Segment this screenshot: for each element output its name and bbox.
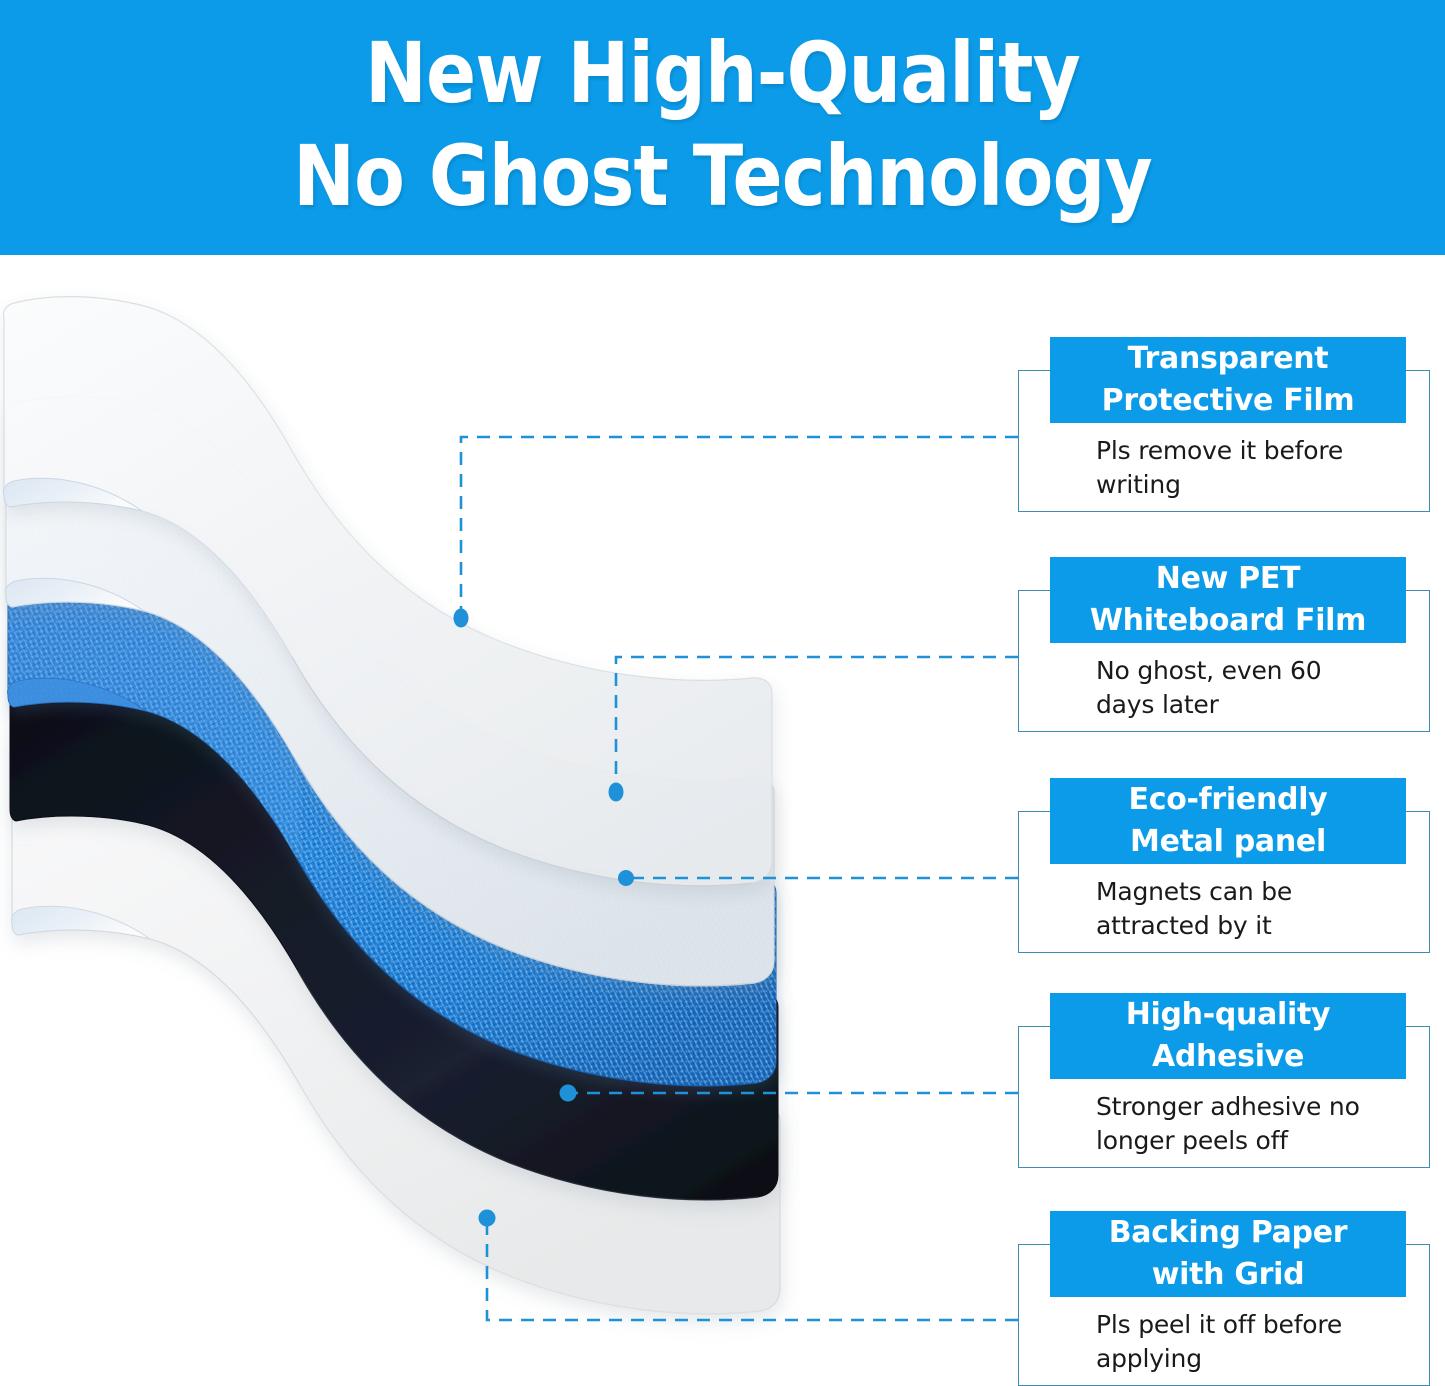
callout-description-2: No ghost, even 60 days later bbox=[1096, 654, 1416, 722]
callout-title-2: New PET Whiteboard Film bbox=[1050, 557, 1406, 643]
callout-description-3: Magnets can be attracted by it bbox=[1096, 875, 1416, 943]
callout-title-4: High-quality Adhesive bbox=[1050, 993, 1406, 1079]
callout-title-1: Transparent Protective Film bbox=[1050, 337, 1406, 423]
callout-description-5: Pls peel it off before applying bbox=[1096, 1308, 1416, 1376]
callout-title-3: Eco-friendly Metal panel bbox=[1050, 778, 1406, 864]
product-layer-illustration bbox=[0, 255, 1010, 1379]
callout-title-5: Backing Paper with Grid bbox=[1050, 1211, 1406, 1297]
header-banner: New High-Quality No Ghost Technology bbox=[0, 0, 1445, 255]
callout-description-4: Stronger adhesive no longer peels off bbox=[1096, 1090, 1416, 1158]
callout-description-1: Pls remove it before writing bbox=[1096, 434, 1416, 502]
page-title: New High-Quality No Ghost Technology bbox=[87, 22, 1359, 228]
